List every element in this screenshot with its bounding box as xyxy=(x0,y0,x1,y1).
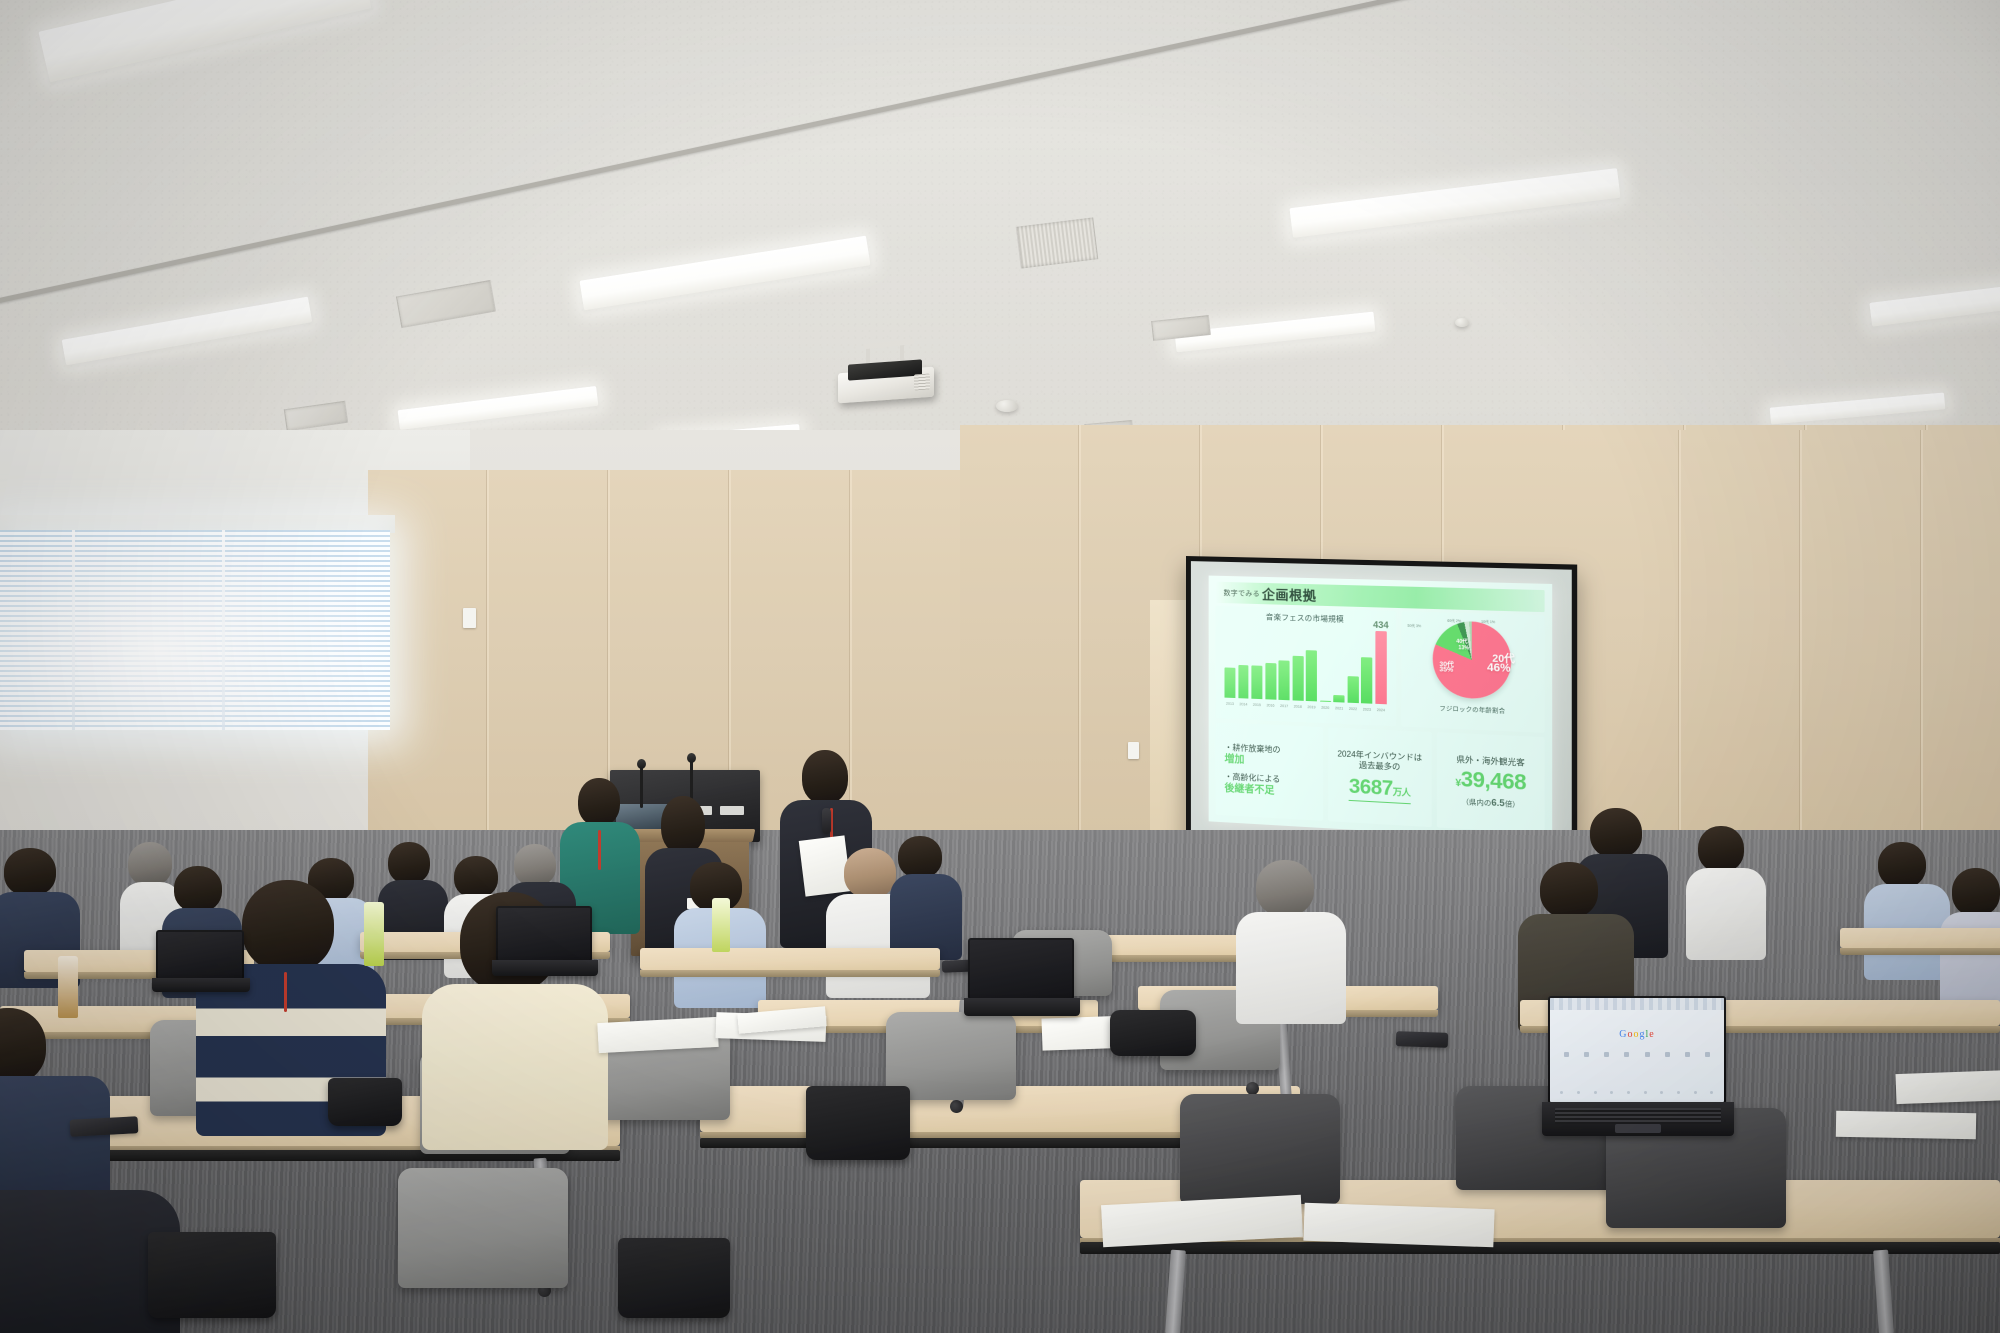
attendee-head xyxy=(898,836,942,878)
bullet-2-emphasis: 後継者不足 xyxy=(1224,783,1280,799)
slide-title-big: 企画根拠 xyxy=(1262,584,1317,605)
attendee-head xyxy=(514,844,556,886)
google-logo: Google xyxy=(1619,1029,1654,1040)
smartphone[interactable] xyxy=(1396,1031,1448,1048)
laptop-display: Google xyxy=(1550,998,1724,1102)
bar-x-label: 2016 xyxy=(1266,703,1274,707)
wall-switch-plate[interactable] xyxy=(463,608,476,628)
smoke-detector xyxy=(996,400,1018,412)
bullet-1-emphasis: 増加 xyxy=(1224,753,1280,768)
presentation-slide: 数字でみる 企画根拠 音楽フェスの市場規模 2013 2014 2015 201… xyxy=(1209,576,1553,842)
laptop-display xyxy=(498,908,590,960)
laptop-keyboard-base[interactable] xyxy=(1542,1102,1734,1136)
attendee-head xyxy=(174,866,222,912)
bar-x-label: 2015 xyxy=(1253,703,1261,707)
logo-letter: e xyxy=(1649,1029,1654,1040)
tourist-sub: （県内の6.5倍） xyxy=(1462,796,1520,811)
attendee-head xyxy=(1540,862,1598,918)
taskbar-icon[interactable] xyxy=(1660,1091,1663,1094)
smoke-detector xyxy=(1455,318,1469,327)
taskbar-icon[interactable] xyxy=(1577,1091,1580,1094)
microphone-stand xyxy=(640,766,643,808)
bag[interactable] xyxy=(618,1238,730,1318)
taskbar-icon[interactable] xyxy=(1710,1091,1713,1094)
taskbar-icon[interactable] xyxy=(1694,1091,1697,1094)
bar-x-label: 2018 xyxy=(1294,705,1302,709)
attendee-head xyxy=(1590,808,1642,858)
taskbar-icon[interactable] xyxy=(1627,1091,1630,1094)
bar: 2022 xyxy=(1347,676,1358,703)
document[interactable] xyxy=(1896,1070,2000,1104)
taskbar-icon[interactable] xyxy=(1677,1091,1680,1094)
bar-x-label: 2022 xyxy=(1349,707,1357,711)
bullet-2-text: ・高齢化による xyxy=(1224,772,1280,784)
bar: 2021 xyxy=(1334,695,1345,702)
tourist-sub-post: 倍） xyxy=(1505,801,1520,809)
attendee-head xyxy=(454,856,498,898)
attendee-head xyxy=(1256,860,1314,916)
laptop-trackpad[interactable] xyxy=(1615,1124,1661,1133)
pie-chart-plot: 50代 3% 60代 2% 10代 1% 20代 46% 30代 35% 40代… xyxy=(1405,614,1540,706)
presenter-head xyxy=(802,750,848,804)
laptop-keyboard-base[interactable] xyxy=(964,998,1080,1016)
wood-panel-seams xyxy=(1560,430,2000,870)
attendee-head xyxy=(128,842,172,886)
shortcut-tile[interactable] xyxy=(1685,1052,1690,1057)
tourist-head: 県外・海外観光客 xyxy=(1457,755,1525,769)
document[interactable] xyxy=(597,1017,718,1053)
bag[interactable] xyxy=(1110,1010,1196,1056)
chair[interactable] xyxy=(1180,1094,1340,1204)
attendee-head xyxy=(1878,842,1926,888)
lanyard xyxy=(284,972,287,1012)
bar: 2014 xyxy=(1238,665,1249,698)
inbound-number: 3687 xyxy=(1349,776,1393,801)
bar-x-label: 2021 xyxy=(1335,706,1343,710)
pie-label-30s-pct: 35% xyxy=(1439,666,1453,674)
inbound-unit: 万人 xyxy=(1393,787,1411,798)
av-button[interactable] xyxy=(720,806,744,815)
window-with-blinds xyxy=(0,530,390,730)
laptop-screen: Google xyxy=(1548,996,1726,1104)
drink-bottle[interactable] xyxy=(364,902,384,966)
tourist-number: 39,468 xyxy=(1461,768,1526,795)
slide-charts-row: 音楽フェスの市場規模 2013 2014 2015 2016 2017 2018… xyxy=(1216,606,1545,733)
tourist-sub-pre: （県内の xyxy=(1462,799,1492,808)
document[interactable] xyxy=(1836,1111,1976,1139)
bar-x-label: 2019 xyxy=(1307,705,1315,709)
shortcut-tile[interactable] xyxy=(1584,1052,1589,1057)
attendee-head xyxy=(844,848,896,898)
taskbar-icon[interactable] xyxy=(1594,1091,1597,1094)
attendee-torso xyxy=(1236,912,1346,1024)
pie-chart: 20代 46% 30代 35% 40代 13% xyxy=(1433,620,1512,700)
bar: 2016 xyxy=(1265,663,1276,700)
seminar-room-photo: 数字でみる 企画根拠 音楽フェスの市場規模 2013 2014 2015 201… xyxy=(0,0,2000,1333)
window-glow xyxy=(0,530,390,730)
table-caster xyxy=(950,1100,963,1113)
shortcut-tile[interactable] xyxy=(1564,1052,1569,1057)
document[interactable] xyxy=(1303,1203,1494,1248)
inbound-value: 3687万人 xyxy=(1349,776,1411,805)
bullet-aging-successors: ・高齢化による 後継者不足 xyxy=(1224,772,1280,799)
bar: 2023 xyxy=(1361,657,1372,704)
tourist-value: ¥39,468 xyxy=(1455,767,1526,796)
shortcut-tile[interactable] xyxy=(1645,1052,1650,1057)
ceiling-projector xyxy=(838,352,934,404)
bar: 2017 xyxy=(1279,660,1290,700)
laptop-screen xyxy=(968,938,1074,1000)
slide-title-small: 数字でみる xyxy=(1223,587,1259,598)
slide-stats-row: ・耕作放棄地の 増加 ・高齢化による 後継者不足 2024年インバウンドは 過去… xyxy=(1216,722,1545,833)
laptop-keyboard[interactable] xyxy=(1555,1108,1720,1124)
shortcut-tile[interactable] xyxy=(1624,1052,1629,1057)
drink-bottle[interactable] xyxy=(712,898,730,952)
smartphone[interactable] xyxy=(70,1116,139,1137)
bullet-abandoned-farmland: ・耕作放棄地の 増加 xyxy=(1224,742,1280,768)
taskbar[interactable] xyxy=(1560,1091,1713,1094)
taskbar-icon[interactable] xyxy=(1644,1091,1647,1094)
laptop-display xyxy=(970,940,1072,998)
attendee-torso xyxy=(1686,868,1766,960)
pie-label-40s-pct: 13% xyxy=(1458,645,1469,652)
table xyxy=(1840,928,2000,948)
bag[interactable] xyxy=(328,1078,402,1126)
bar-x-label: 2014 xyxy=(1239,702,1247,706)
bar-chart-plot: 2013 2014 2015 2016 2017 2018 2019 2020 … xyxy=(1221,623,1391,704)
laptop-display xyxy=(158,932,242,978)
pie-chart-panel: 50代 3% 60代 2% 10代 1% 20代 46% 30代 35% 40代… xyxy=(1401,611,1544,733)
laptop-keyboard-base[interactable] xyxy=(492,960,598,976)
lanyard xyxy=(598,830,601,870)
attendee-torso xyxy=(1940,912,2000,1008)
bar: 2018 xyxy=(1292,656,1303,701)
presenter-head xyxy=(578,778,620,826)
shortcut-tile[interactable] xyxy=(1665,1052,1670,1057)
attendee-head xyxy=(242,880,334,972)
pie-micro-label-left: 50代 3% xyxy=(1407,623,1421,629)
bag[interactable] xyxy=(806,1086,910,1160)
tourist-sub-multiple: 6.5 xyxy=(1491,797,1504,808)
laptop-screen xyxy=(156,930,244,980)
bar: 2013 xyxy=(1224,668,1235,698)
shortcut-row[interactable] xyxy=(1564,1052,1710,1057)
bag[interactable] xyxy=(148,1232,276,1318)
inbound-head-line2: 過去最多の xyxy=(1359,760,1400,773)
bar-x-label: 2024 xyxy=(1377,708,1385,712)
screen-surface: 数字でみる 企画根拠 音楽フェスの市場規模 2013 2014 2015 201… xyxy=(1191,561,1572,857)
chair[interactable] xyxy=(398,1168,568,1288)
browser-toolbar[interactable] xyxy=(1550,998,1724,1010)
taskbar-icon[interactable] xyxy=(1610,1091,1613,1094)
bar-chart-panel: 音楽フェスの市場規模 2013 2014 2015 2016 2017 2018… xyxy=(1216,606,1396,726)
bar: 2019 xyxy=(1306,651,1317,702)
bar-x-label: 2013 xyxy=(1226,702,1234,706)
pie-label-20s-pct: 46% xyxy=(1487,662,1511,675)
table xyxy=(640,948,940,970)
shortcut-tile[interactable] xyxy=(1604,1052,1609,1057)
projector-vent xyxy=(914,373,930,390)
bar-value-label: 434 xyxy=(1373,620,1389,631)
wall-outlet-plate[interactable] xyxy=(1128,742,1139,759)
table-frame-bar xyxy=(1080,1242,2000,1254)
shortcut-tile[interactable] xyxy=(1705,1052,1710,1057)
wood-wall-panel xyxy=(1560,430,2000,870)
taskbar-icon[interactable] xyxy=(1560,1091,1563,1094)
stat-cell-inbound: 2024年インバウンドは 過去最多の 3687万人 xyxy=(1328,727,1432,827)
attendee-head xyxy=(388,842,430,884)
attendee-head xyxy=(4,848,56,896)
attendee-torso xyxy=(422,984,608,1150)
laptop-screen xyxy=(496,906,592,962)
attendee-head xyxy=(1952,868,2000,916)
attendee-head xyxy=(1698,826,1744,872)
logo-letter: G xyxy=(1619,1029,1627,1040)
stat-cell-issues: ・耕作放棄地の 増加 ・高齢化による 後継者不足 xyxy=(1216,722,1323,821)
bar-x-label: 2020 xyxy=(1321,706,1329,710)
presenter-head xyxy=(661,796,705,854)
drink-bottle[interactable] xyxy=(58,956,78,1018)
bar-x-label: 2023 xyxy=(1363,707,1371,711)
bar-x-label: 2017 xyxy=(1280,704,1288,708)
handheld-microphone[interactable] xyxy=(822,808,831,834)
laptop-keyboard-base[interactable] xyxy=(152,978,250,992)
bullet-1-text: ・耕作放棄地の xyxy=(1224,742,1280,754)
presenter-handout xyxy=(799,835,851,896)
stat-cell-tourist-spend: 県外・海外観光客 ¥39,468 （県内の6.5倍） xyxy=(1437,732,1544,833)
bar: 2015 xyxy=(1251,665,1262,699)
bar-highlight: 434 2024 xyxy=(1375,631,1386,704)
